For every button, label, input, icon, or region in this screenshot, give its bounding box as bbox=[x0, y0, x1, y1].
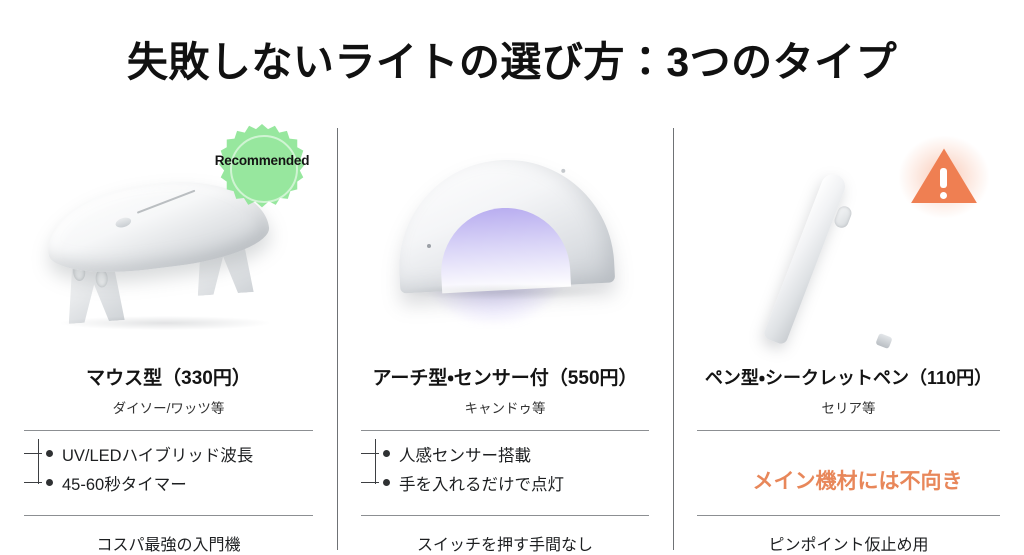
divider-rule bbox=[361, 430, 649, 431]
feature-label: 手を入れるだけで点灯 bbox=[399, 471, 564, 495]
pen-tip-icon bbox=[875, 333, 892, 349]
footer-note-mouse: コスパ最強の入門機 bbox=[22, 531, 315, 555]
card-title-arch: アーチ型・センサー付（550円） bbox=[359, 363, 651, 390]
recommended-badge-label: Recommended bbox=[197, 153, 327, 168]
footer-note-arch: スイッチを押す手間なし bbox=[359, 531, 651, 555]
product-shadow bbox=[401, 284, 606, 300]
bullet-dot-icon bbox=[46, 450, 53, 457]
feature-list-mouse: UV/LEDハイブリッド波長 45-60秒タイマー bbox=[22, 439, 315, 502]
arch-sensor-icon bbox=[427, 244, 431, 248]
type-comparison-columns: Recommended マウス型（330円） ダイソー/ワッツ等 UV/LEDハ… bbox=[0, 118, 1024, 555]
tree-branch bbox=[24, 453, 42, 454]
divider-rule bbox=[24, 515, 313, 516]
tree-connector bbox=[38, 439, 39, 484]
tree-connector bbox=[375, 439, 376, 484]
feature-item: 手を入れるだけで点灯 bbox=[377, 468, 651, 497]
tree-branch bbox=[24, 482, 42, 483]
feature-item: UV/LEDハイブリッド波長 bbox=[40, 439, 315, 468]
card-subtitle-mouse: ダイソー/ワッツ等 bbox=[22, 397, 315, 417]
tree-branch bbox=[361, 482, 379, 483]
arch-vent-icon bbox=[561, 169, 565, 173]
product-visual-mouse: Recommended bbox=[22, 118, 315, 357]
feature-list-arch: 人感センサー搭載 手を入れるだけで点灯 bbox=[359, 439, 651, 502]
feature-item: 人感センサー搭載 bbox=[377, 439, 651, 468]
badge-ring-icon bbox=[230, 135, 298, 203]
product-visual-arch bbox=[359, 118, 651, 357]
pen-body-icon bbox=[762, 171, 848, 346]
card-subtitle-arch: キャンドゥ等 bbox=[359, 397, 651, 417]
feature-label: 人感センサー搭載 bbox=[399, 442, 531, 466]
pen-lamp-icon bbox=[781, 140, 981, 355]
divider-rule bbox=[361, 515, 649, 516]
mouse-seam-icon bbox=[137, 190, 196, 214]
type-card-pen[interactable]: ペン型・シークレットペン（110円） セリア等 メイン機材には不向き ピンポイン… bbox=[673, 118, 1024, 555]
footer-note-pen: ピンポイント仮止め用 bbox=[695, 531, 1002, 555]
exclamation-bar-icon bbox=[940, 168, 947, 188]
tree-branch bbox=[361, 453, 379, 454]
card-title-pen: ペン型・シークレットペン（110円） bbox=[695, 364, 1002, 390]
column-divider bbox=[337, 128, 338, 550]
divider-rule bbox=[24, 430, 313, 431]
type-card-arch[interactable]: アーチ型・センサー付（550円） キャンドゥ等 人感センサー搭載 手を入れるだけ… bbox=[337, 118, 673, 555]
arch-lamp-icon bbox=[397, 160, 612, 325]
divider-rule bbox=[697, 515, 1000, 516]
recommended-badge: Recommended bbox=[219, 124, 305, 210]
product-visual-pen bbox=[695, 118, 1002, 358]
bullet-dot-icon bbox=[383, 479, 390, 486]
feature-label: 45-60秒タイマー bbox=[62, 471, 187, 495]
card-subtitle-pen: セリア等 bbox=[695, 397, 1002, 417]
type-card-mouse[interactable]: Recommended マウス型（330円） ダイソー/ワッツ等 UV/LEDハ… bbox=[0, 118, 337, 555]
feature-list-pen: メイン機材には不向き bbox=[695, 439, 1002, 502]
column-divider bbox=[673, 128, 674, 550]
warning-text-pen: メイン機材には不向き bbox=[713, 465, 1002, 495]
bullet-dot-icon bbox=[383, 450, 390, 457]
warning-triangle-badge bbox=[909, 146, 979, 208]
mouse-wheel-icon bbox=[114, 216, 132, 229]
feature-label: UV/LEDハイブリッド波長 bbox=[62, 442, 253, 466]
divider-rule bbox=[697, 430, 1000, 431]
product-shadow bbox=[60, 316, 270, 330]
card-title-mouse: マウス型（330円） bbox=[22, 363, 315, 390]
exclamation-dot-icon bbox=[940, 192, 947, 199]
bullet-dot-icon bbox=[46, 479, 53, 486]
page-title: 失敗しないライトの選び方：3つのタイプ bbox=[0, 38, 1024, 87]
feature-item: 45-60秒タイマー bbox=[40, 468, 315, 497]
